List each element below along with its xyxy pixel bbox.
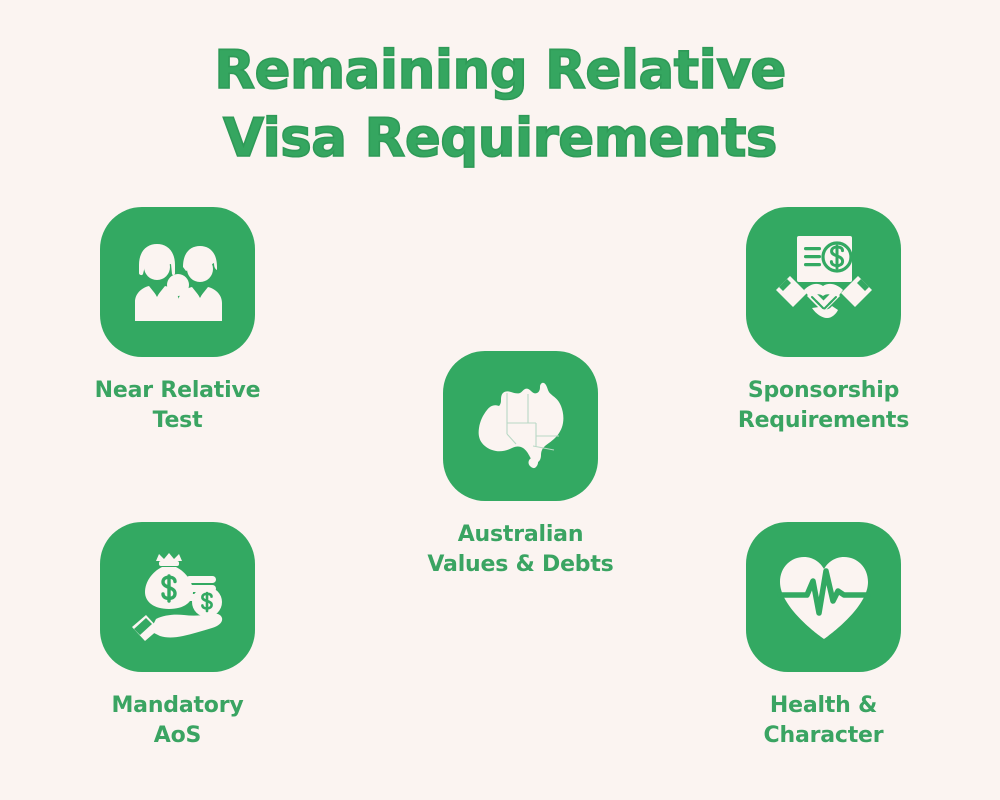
family-group-icon — [126, 239, 230, 325]
icon-tile-australian-values-debts — [443, 351, 598, 501]
item-australian-values-debts[interactable]: Australian Values & Debts — [423, 351, 618, 581]
page-title-line-2: Visa Requirements — [0, 112, 1000, 166]
item-sponsorship-requirements[interactable]: Sponsorship Requirements — [726, 207, 921, 437]
icon-tile-sponsorship-requirements — [746, 207, 901, 357]
icon-tile-mandatory-aos — [100, 522, 255, 672]
australia-map-icon — [466, 376, 576, 476]
item-near-relative-test[interactable]: Near Relative Test — [80, 207, 275, 437]
item-mandatory-aos[interactable]: Mandatory AoS — [80, 522, 275, 752]
icon-tile-near-relative-test — [100, 207, 255, 357]
item-label-near-relative-test: Near Relative Test — [80, 376, 275, 437]
handshake-document-dollar-icon — [774, 234, 874, 330]
item-health-character[interactable]: Health & Character — [726, 522, 921, 752]
item-label-australian-values-debts: Australian Values & Debts — [423, 520, 618, 581]
hand-money-bag-coins-icon — [126, 551, 230, 643]
item-label-mandatory-aos: Mandatory AoS — [80, 691, 275, 752]
page-title: Remaining Relative Visa Requirements — [0, 44, 1000, 166]
infographic-canvas: Remaining Relative Visa Requirements — [0, 0, 1000, 800]
item-label-health-character: Health & Character — [726, 691, 921, 752]
page-title-line-1: Remaining Relative — [0, 44, 1000, 98]
icon-tile-health-character — [746, 522, 901, 672]
item-label-sponsorship-requirements: Sponsorship Requirements — [726, 376, 921, 437]
heart-pulse-icon — [774, 551, 874, 643]
